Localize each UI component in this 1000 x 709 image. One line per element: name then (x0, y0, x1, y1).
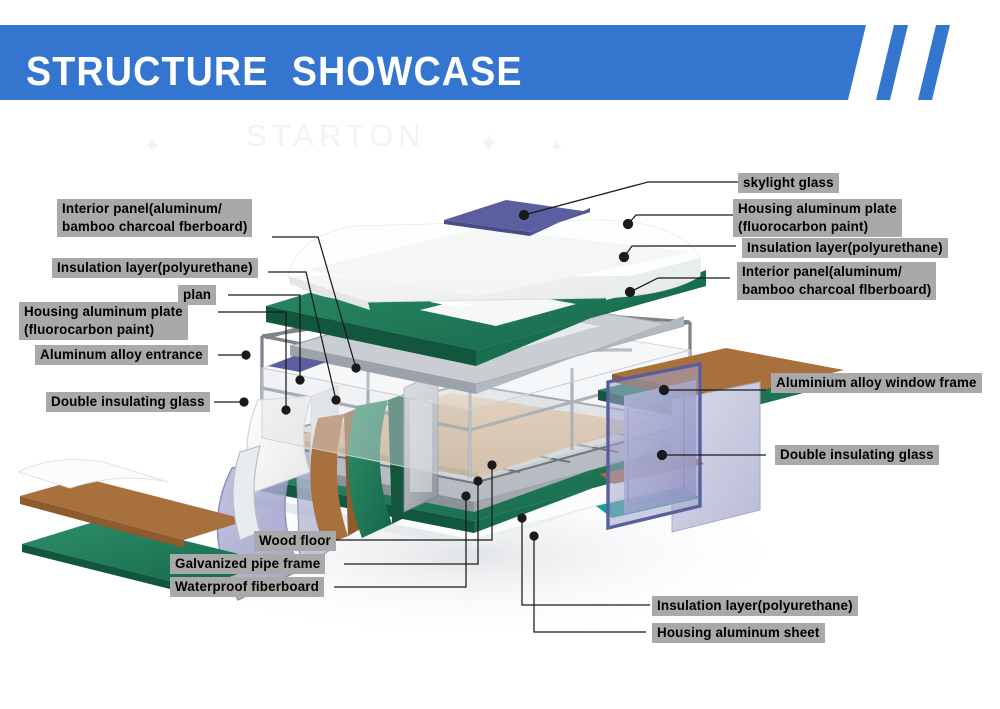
label-interior-panel-right[interactable]: Interior panel(aluminum/ bamboo charcoal… (737, 262, 936, 300)
label-housing-aluminum-sheet[interactable]: Housing aluminum sheet (652, 623, 825, 643)
part-double-insulating-glass-right (624, 380, 696, 514)
label-interior-panel-left[interactable]: Interior panel(aluminum/ bamboo charcoal… (57, 199, 252, 237)
label-double-insulating-glass-right[interactable]: Double insulating glass (775, 445, 939, 465)
page-title: STRUCTURE SHOWCASE (26, 51, 523, 92)
label-double-insulating-glass-left[interactable]: Double insulating glass (46, 392, 210, 412)
label-skylight-glass[interactable]: skylight glass (738, 173, 839, 193)
label-housing-aluminum-plate-right[interactable]: Housing aluminum plate (fluorocarbon pai… (733, 199, 902, 237)
label-housing-aluminum-plate-left[interactable]: Housing aluminum plate (fluorocarbon pai… (19, 302, 188, 340)
label-insulation-layer-bottom[interactable]: Insulation layer(polyurethane) (652, 596, 858, 616)
label-aluminum-alloy-entrance[interactable]: Aluminum alloy entrance (35, 345, 208, 365)
label-insulation-layer-right[interactable]: Insulation layer(polyurethane) (742, 238, 948, 258)
label-insulation-layer-left[interactable]: Insulation layer(polyurethane) (52, 258, 258, 278)
label-galvanized-pipe-frame[interactable]: Galvanized pipe frame (170, 554, 325, 574)
label-waterproof-fiberboard[interactable]: Waterproof fiberboard (170, 577, 324, 597)
label-aluminium-alloy-window-frame[interactable]: Aluminium alloy window frame (771, 373, 982, 393)
header-banner: STRUCTURE SHOWCASE (0, 25, 1000, 100)
label-wood-floor[interactable]: Wood floor (254, 531, 336, 551)
